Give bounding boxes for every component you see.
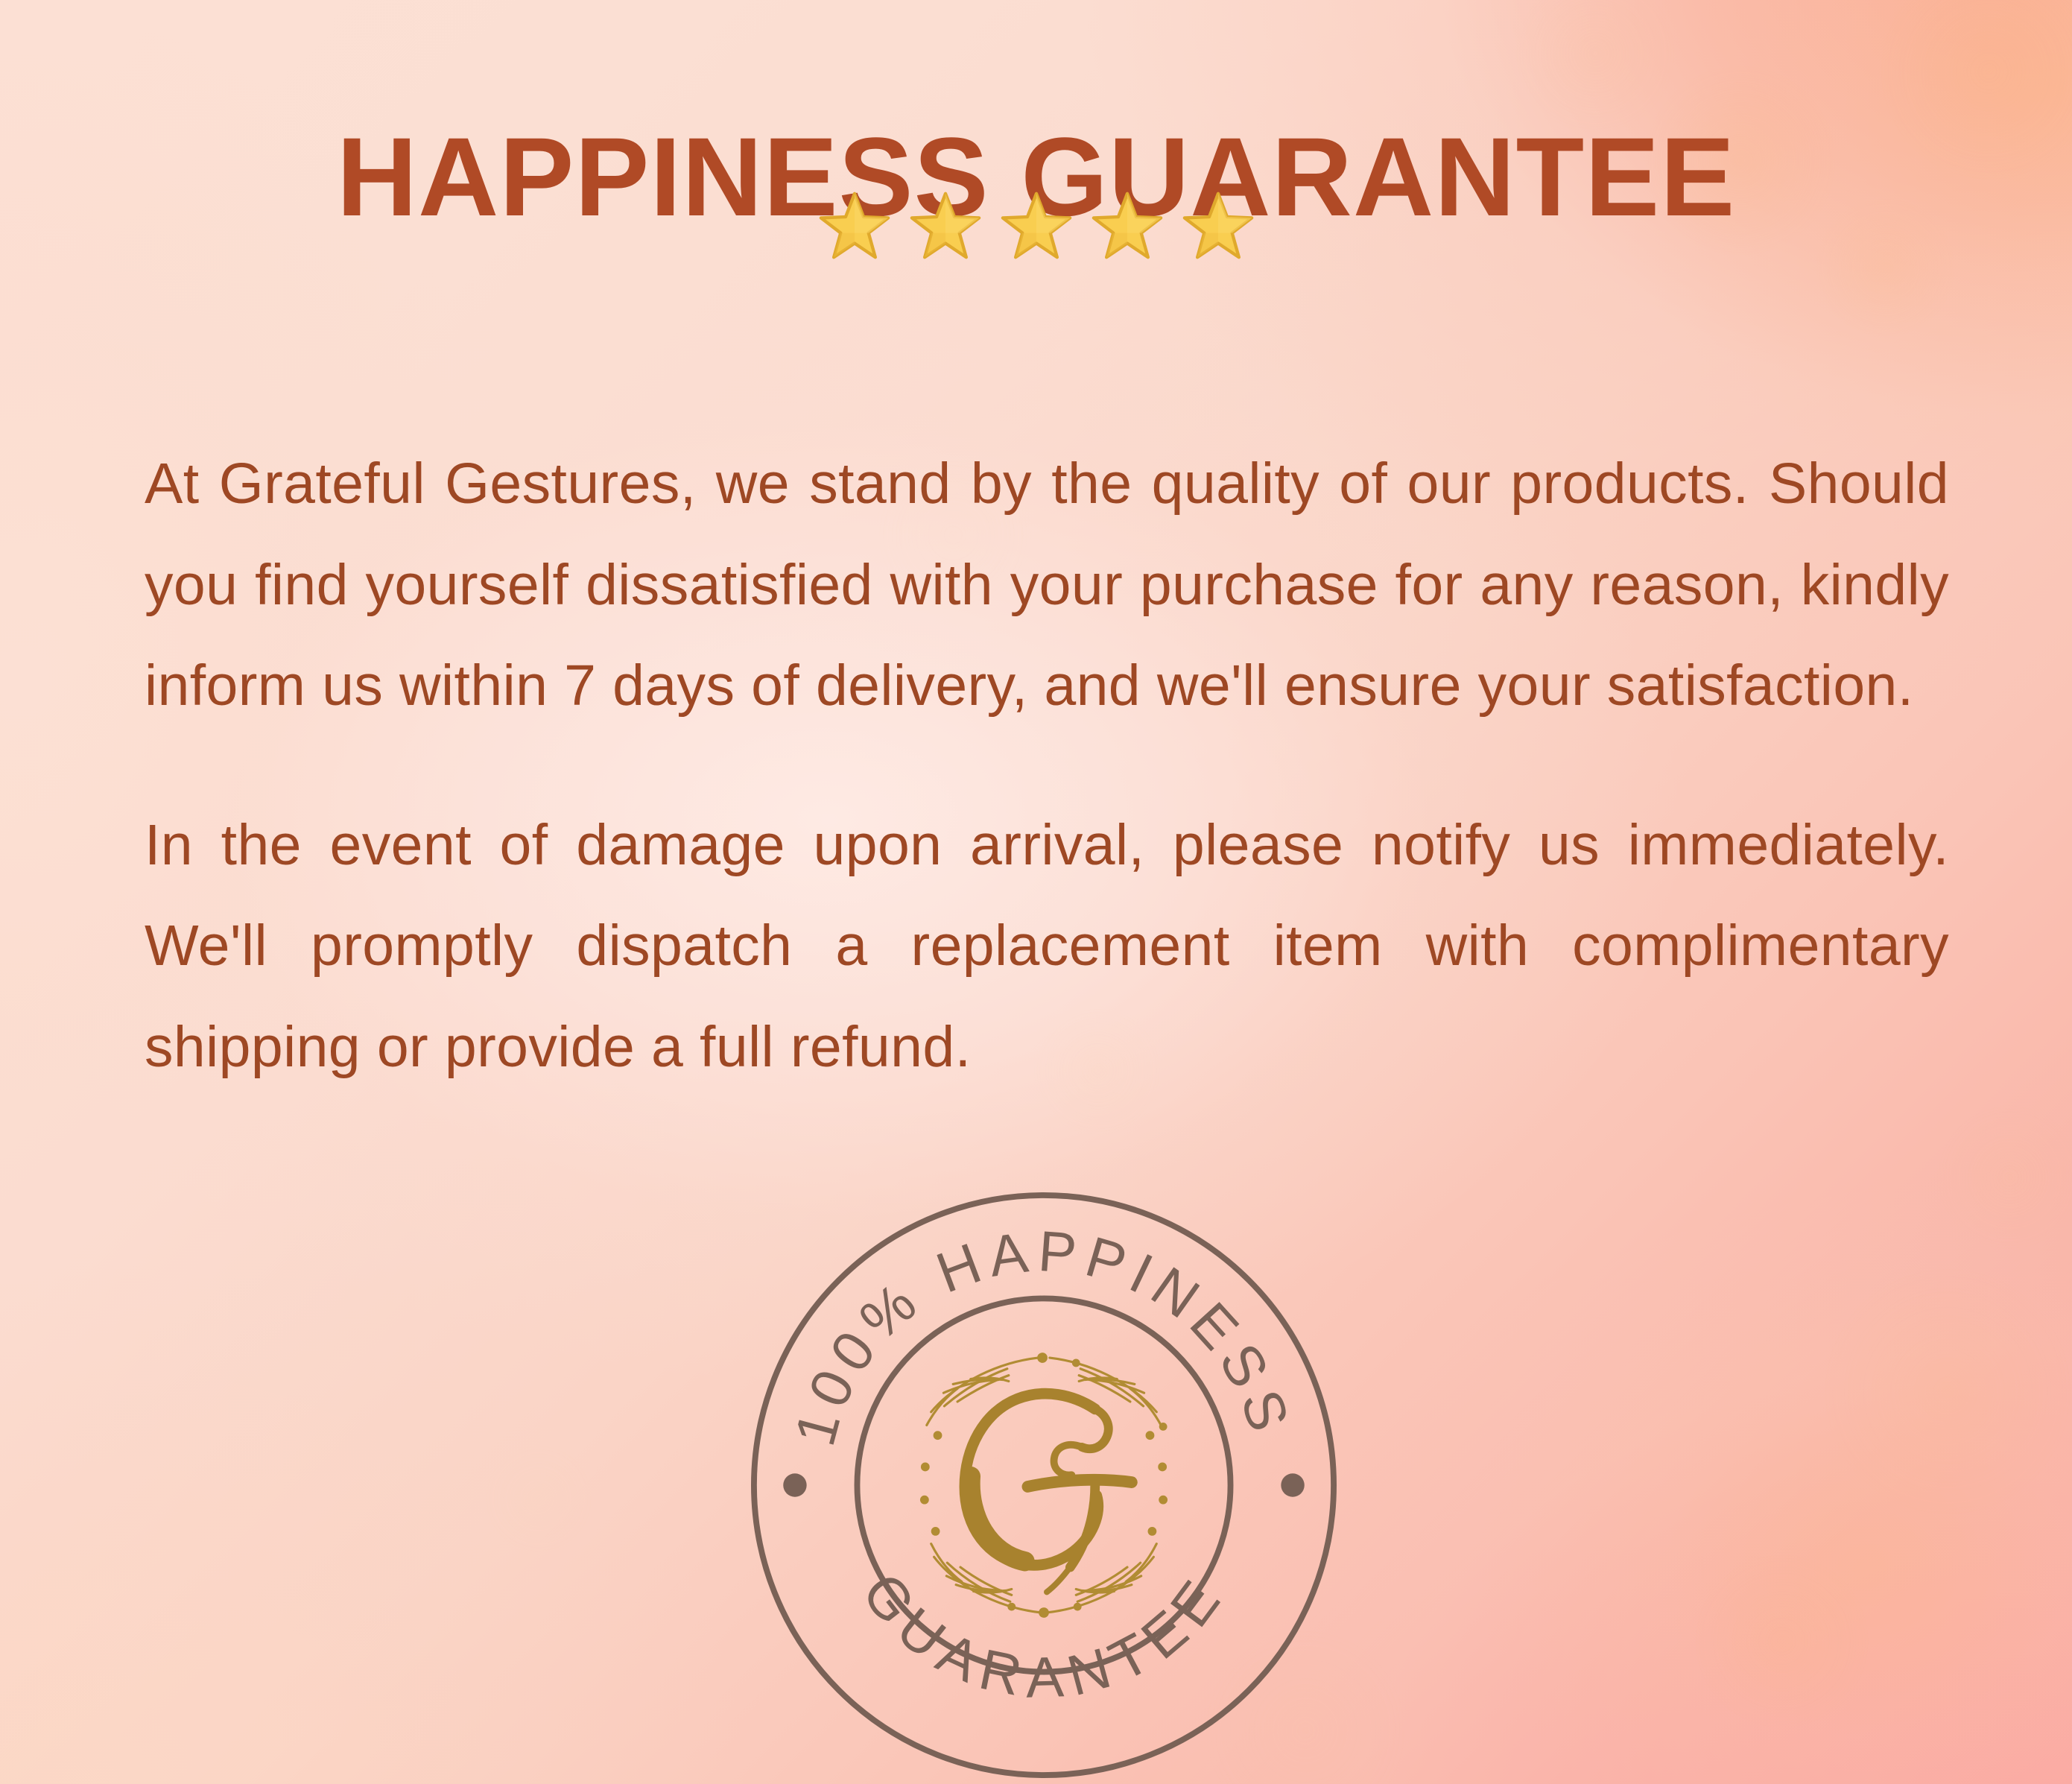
seal-left-dot-icon bbox=[783, 1473, 806, 1496]
guarantee-poster: HAPPINESS GUARANTEE bbox=[0, 0, 2072, 1784]
guarantee-paragraph-1: At Grateful Gestures, we stand by the qu… bbox=[145, 434, 1949, 737]
star-icon-5 bbox=[1182, 190, 1254, 262]
seal-right-dot-icon bbox=[1281, 1473, 1304, 1496]
guarantee-seal: 100% HAPPINESS GUARANTEE bbox=[751, 1192, 1337, 1778]
star-icon-3 bbox=[1001, 190, 1072, 262]
seal-wreath-bottom-berries bbox=[1007, 1603, 1081, 1618]
star-icon-1 bbox=[819, 190, 890, 262]
star-icon-4 bbox=[1092, 190, 1163, 262]
star-rating bbox=[0, 190, 2072, 262]
seal-top-arc-text: 100% HAPPINESS bbox=[783, 1220, 1302, 1452]
seal-wreath-bottom-icon bbox=[931, 1544, 1157, 1613]
star-icon-2 bbox=[910, 190, 981, 262]
seal-bottom-arc-text: GUARANTEE bbox=[849, 1562, 1238, 1710]
guarantee-paragraph-2: In the event of damage upon arrival, ple… bbox=[145, 795, 1949, 1098]
seal-monogram-g-icon bbox=[965, 1394, 1132, 1592]
guarantee-body: At Grateful Gestures, we stand by the qu… bbox=[145, 434, 1949, 1098]
